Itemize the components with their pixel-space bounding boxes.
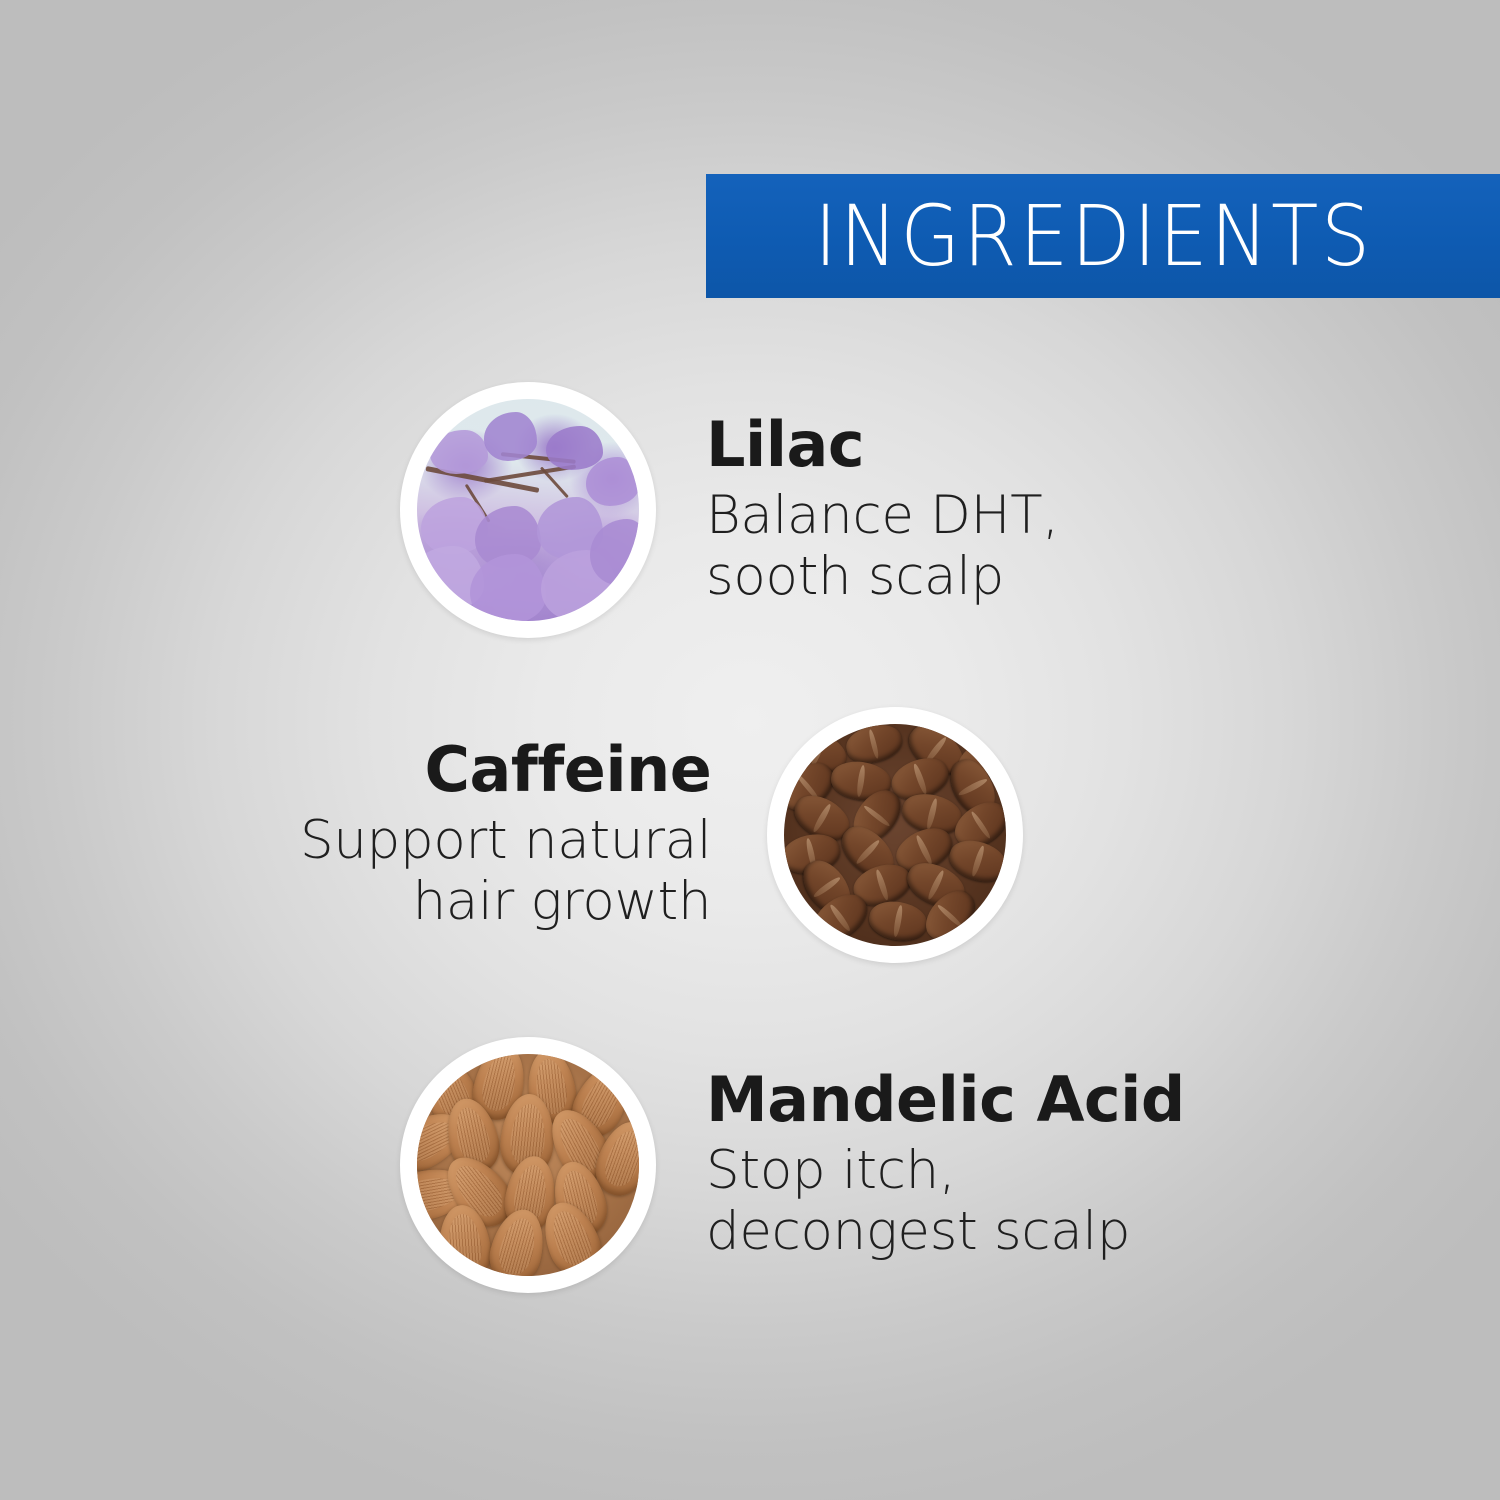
- ingredient-description-mandelic-acid: Stop itch, decongest scalp: [706, 1141, 1185, 1262]
- ingredient-name-caffeine: Caffeine: [300, 738, 711, 801]
- page-title: INGREDIENTS: [815, 194, 1374, 278]
- ingredient-row-mandelic-acid: Mandelic Acid Stop itch, decongest scalp: [400, 1037, 1185, 1293]
- ingredient-row-caffeine: Caffeine Support natural hair growth: [300, 707, 1023, 963]
- mandelic-acid-text-block: Mandelic Acid Stop itch, decongest scalp: [706, 1068, 1185, 1262]
- ingredient-name-mandelic-acid: Mandelic Acid: [706, 1068, 1185, 1131]
- lilac-text-block: Lilac Balance DHT, sooth scalp: [706, 413, 1059, 607]
- almonds-image: [417, 1054, 639, 1276]
- caffeine-text-block: Caffeine Support natural hair growth: [300, 738, 711, 932]
- caffeine-medallion: [767, 707, 1023, 963]
- coffee-beans-image: [784, 724, 1006, 946]
- mandelic-acid-medallion: [400, 1037, 656, 1293]
- ingredient-name-lilac: Lilac: [706, 413, 1059, 476]
- ingredient-row-lilac: Lilac Balance DHT, sooth scalp: [400, 382, 1059, 638]
- ingredients-banner: INGREDIENTS: [706, 174, 1500, 298]
- ingredients-infographic: INGREDIENTS: [0, 0, 1500, 1500]
- lilac-medallion: [400, 382, 656, 638]
- ingredient-description-lilac: Balance DHT, sooth scalp: [706, 486, 1059, 607]
- ingredient-description-caffeine: Support natural hair growth: [300, 811, 711, 932]
- lilac-flowers-image: [417, 399, 639, 621]
